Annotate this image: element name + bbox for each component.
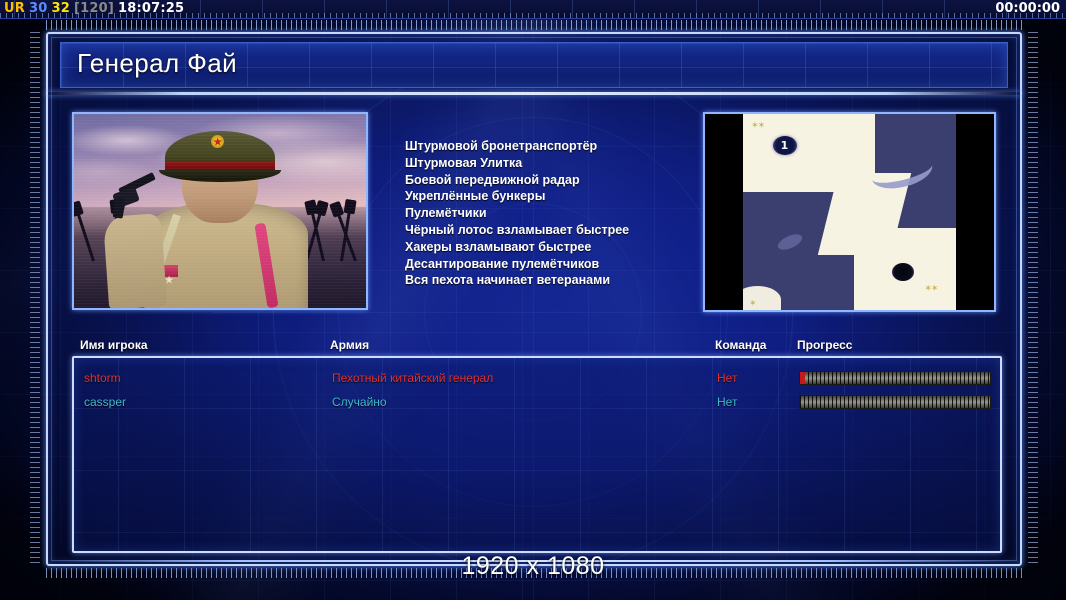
abilities-list: Штурмовой бронетранспортёр Штурмовая Ули… bbox=[405, 138, 705, 289]
map-feature bbox=[775, 231, 804, 253]
game-screen: UR3032[120]18:07:25 00:00:00 Генерал Фай bbox=[0, 0, 1066, 600]
fps-alt-value: 32 bbox=[51, 1, 70, 16]
table-row[interactable]: shtorm Пехотный китайский генерал Нет bbox=[74, 368, 1002, 392]
player-team: Нет bbox=[717, 371, 737, 385]
ability-item: Вся пехота начинает ветеранами bbox=[405, 272, 705, 289]
progress-bar-accent bbox=[800, 372, 805, 384]
map-preview[interactable]: ✶✶ ✶✶ ✶ 1 bbox=[703, 112, 996, 312]
fps-value: 30 bbox=[29, 1, 48, 16]
title-panel: Генерал Фай bbox=[60, 42, 1008, 88]
resolution-label: 1920 x 1080 bbox=[0, 552, 1066, 581]
player-name: shtorm bbox=[84, 371, 121, 385]
ur-label: UR bbox=[4, 1, 25, 16]
status-bar-left-group: UR3032[120]18:07:25 bbox=[4, 1, 188, 16]
header-progress: Прогресс bbox=[797, 338, 852, 352]
player-army: Пехотный китайский генерал bbox=[332, 371, 493, 385]
player-progress-bar bbox=[799, 395, 991, 409]
ability-item: Штурмовой бронетранспортёр bbox=[405, 138, 705, 155]
ruler-right-decoration bbox=[1028, 32, 1038, 566]
player-progress-bar bbox=[799, 371, 991, 385]
progress-bar-stripes bbox=[800, 396, 990, 408]
player-name: cassper bbox=[84, 395, 126, 409]
content-area: Штурмовой бронетранспортёр Штурмовая Ули… bbox=[60, 104, 1008, 326]
map-star-marker-icon: ✶✶ bbox=[751, 120, 764, 131]
header-player-name: Имя игрока bbox=[80, 338, 148, 352]
ability-item: Десантирование пулемётчиков bbox=[405, 256, 705, 273]
title-underline bbox=[46, 92, 1022, 95]
progress-bar-stripes bbox=[800, 372, 990, 384]
ability-item: Хакеры взламывают быстрее bbox=[405, 239, 705, 256]
header-army: Армия bbox=[330, 338, 369, 352]
system-clock: 18:07:25 bbox=[118, 1, 184, 16]
portrait-arm bbox=[103, 213, 168, 310]
ruler-top-decoration bbox=[46, 20, 1022, 30]
player-army: Случайно bbox=[332, 395, 387, 409]
portrait-pistol-icon bbox=[112, 178, 158, 214]
map-star-marker-icon: ✶ bbox=[749, 298, 756, 309]
match-timer: 00:00:00 bbox=[995, 1, 1060, 16]
header-team: Команда bbox=[715, 338, 766, 352]
ability-item: Штурмовая Улитка bbox=[405, 155, 705, 172]
player-table-headers: Имя игрока Армия Команда Прогресс bbox=[60, 338, 1008, 356]
ruler-left-decoration bbox=[30, 32, 40, 566]
ability-item: Боевой передвижной радар bbox=[405, 172, 705, 189]
portrait-sky bbox=[74, 114, 366, 308]
ability-item: Укреплённые бункеры bbox=[405, 188, 705, 205]
general-portrait bbox=[72, 112, 368, 310]
status-bar: UR3032[120]18:07:25 00:00:00 bbox=[0, 0, 1066, 19]
map-terrain: ✶✶ ✶✶ ✶ 1 bbox=[743, 114, 957, 310]
player-list-panel: shtorm Пехотный китайский генерал Нет ca… bbox=[72, 356, 1002, 553]
fps-max-value: [120] bbox=[74, 1, 114, 16]
player-team: Нет bbox=[717, 395, 737, 409]
map-start-position-marker[interactable]: 1 bbox=[773, 136, 797, 155]
map-preview-inner: ✶✶ ✶✶ ✶ 1 bbox=[705, 114, 994, 310]
ability-item: Чёрный лотос взламывает быстрее bbox=[405, 222, 705, 239]
ability-item: Пулемётчики bbox=[405, 205, 705, 222]
map-start-position-label: 1 bbox=[781, 140, 789, 151]
map-star-marker-icon: ✶✶ bbox=[924, 283, 937, 294]
table-row[interactable]: cassper Случайно Нет bbox=[74, 392, 1002, 416]
page-title: Генерал Фай bbox=[77, 48, 237, 79]
